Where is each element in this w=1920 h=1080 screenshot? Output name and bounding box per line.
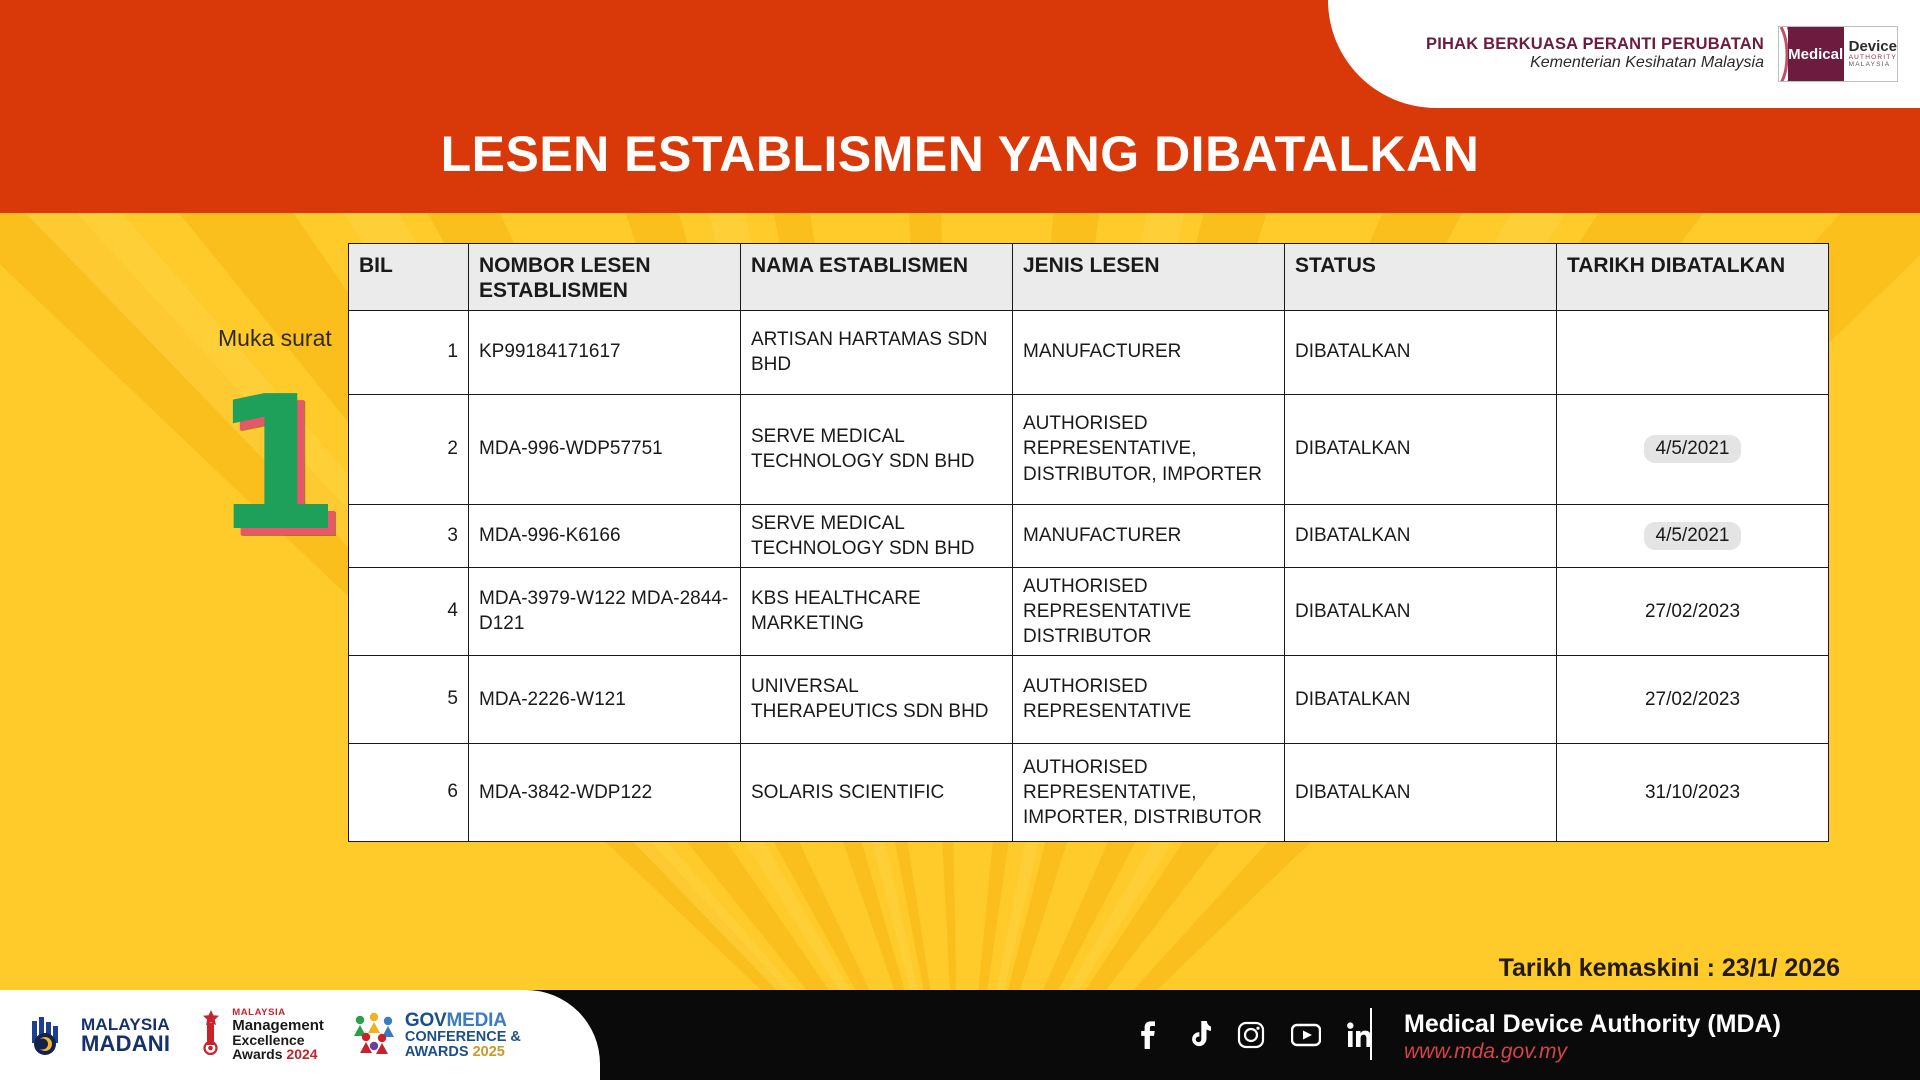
table-row: 5 MDA-2226-W121 UNIVERSAL THERAPEUTICS S…	[349, 655, 1829, 743]
table-row: 3 MDA-996-K6166 SERVE MEDICAL TECHNOLOGY…	[349, 504, 1829, 567]
tiktok-icon[interactable]	[1187, 1021, 1211, 1049]
cell-nombor: MDA-2226-W121	[469, 655, 741, 743]
cell-tarikh: 27/02/2023	[1557, 567, 1829, 655]
cell-status: DIBATALKAN	[1285, 567, 1557, 655]
cell-nama: UNIVERSAL THERAPEUTICS SDN BHD	[741, 655, 1013, 743]
slide-root: PIHAK BERKUASA PERANTI PERUBATAN Kemente…	[0, 0, 1920, 1080]
footer-divider	[1370, 1008, 1372, 1060]
cell-tarikh	[1557, 310, 1829, 394]
social-links	[1135, 990, 1373, 1080]
management-excellence-awards-logo: MALAYSIA Management Excellence Awards 20…	[196, 1008, 324, 1062]
madani-text: MALAYSIA MADANI	[81, 1016, 170, 1055]
cell-status: DIBATALKAN	[1285, 310, 1557, 394]
madani-line2: MADANI	[81, 1033, 170, 1055]
column-header-tarikh: TARIKH DIBATALKAN	[1557, 244, 1829, 311]
cell-bil: 1	[349, 310, 469, 394]
cell-status: DIBATALKAN	[1285, 655, 1557, 743]
cell-tarikh: 31/10/2023	[1557, 743, 1829, 841]
table-row: 4 MDA-3979-W122 MDA-2844-D121 KBS HEALTH…	[349, 567, 1829, 655]
cell-jenis: AUTHORISED REPRESENTATIVE, DISTRIBUTOR, …	[1013, 394, 1285, 504]
cell-nombor: MDA-3979-W122 MDA-2844-D121	[469, 567, 741, 655]
cell-nama: KBS HEALTHCARE MARKETING	[741, 567, 1013, 655]
cell-jenis: MANUFACTURER	[1013, 504, 1285, 567]
cell-jenis: AUTHORISED REPRESENTATIVE	[1013, 655, 1285, 743]
mda-logo-group: PIHAK BERKUASA PERANTI PERUBATAN Kemente…	[1360, 0, 1920, 108]
cell-bil: 6	[349, 743, 469, 841]
page-title: LESEN ESTABLISMEN YANG DIBATALKAN	[0, 125, 1920, 183]
cell-jenis: AUTHORISED REPRESENTATIVE, IMPORTER, DIS…	[1013, 743, 1285, 841]
mea-text: MALAYSIA Management Excellence Awards 20…	[232, 1008, 324, 1062]
cell-status: DIBATALKAN	[1285, 504, 1557, 567]
brand-name: Medical Device Authority (MDA)	[1404, 1009, 1781, 1039]
malaysia-madani-logo: MALAYSIA MADANI	[28, 1013, 170, 1057]
page-indicator-number: 1	[212, 372, 341, 557]
ministry-name: Kementerian Kesihatan Malaysia	[1426, 54, 1764, 72]
gov-media-awards-logo: GOVMEDIA CONFERENCE & AWARDS 2025	[350, 1010, 521, 1061]
mda-logo-medical: Medical	[1788, 27, 1844, 81]
cell-tarikh: 27/02/2023	[1557, 655, 1829, 743]
column-header-status: STATUS	[1285, 244, 1557, 311]
mda-wave-icon	[1779, 27, 1788, 81]
agency-name-bm: PIHAK BERKUASA PERANTI PERUBATAN	[1426, 35, 1764, 54]
cell-bil: 4	[349, 567, 469, 655]
license-table-wrapper: BIL NOMBOR LESEN ESTABLISMEN NAMA ESTABL…	[348, 243, 1828, 842]
mea-line1: Management	[232, 1018, 324, 1033]
facebook-icon[interactable]	[1135, 1021, 1161, 1049]
cell-nombor: MDA-3842-WDP122	[469, 743, 741, 841]
table-header-row: BIL NOMBOR LESEN ESTABLISMEN NAMA ESTABL…	[349, 244, 1829, 311]
gov-line1: GOVMEDIA	[405, 1011, 521, 1030]
cell-jenis: MANUFACTURER	[1013, 310, 1285, 394]
cell-bil: 2	[349, 394, 469, 504]
instagram-icon[interactable]	[1237, 1021, 1265, 1049]
column-header-bil: BIL	[349, 244, 469, 311]
cell-tarikh: 4/5/2021	[1557, 394, 1829, 504]
gov-line2: CONFERENCE &	[405, 1030, 521, 1045]
page-indicator-label: Muka surat	[218, 325, 332, 352]
mda-emblem-icon: Medical Device AUTHORITY MALAYSIA	[1778, 26, 1898, 82]
mea-emblem-icon	[196, 1009, 226, 1060]
cell-bil: 5	[349, 655, 469, 743]
cell-tarikh: 4/5/2021	[1557, 504, 1829, 567]
mea-year: 2024	[286, 1046, 317, 1062]
table-row: 6 MDA-3842-WDP122 SOLARIS SCIENTIFIC AUT…	[349, 743, 1829, 841]
table-row: 2 MDA-996-WDP57751 SERVE MEDICAL TECHNOL…	[349, 394, 1829, 504]
cell-status: DIBATALKAN	[1285, 394, 1557, 504]
gov-people-icon	[350, 1010, 398, 1061]
mda-logo-malaysia: MALAYSIA	[1849, 62, 1891, 69]
madani-emblem-icon	[28, 1013, 72, 1057]
mda-logo-right: Device AUTHORITY MALAYSIA	[1844, 27, 1897, 81]
column-header-nama: NAMA ESTABLISMEN	[741, 244, 1013, 311]
cell-bil: 3	[349, 504, 469, 567]
gov-text: GOVMEDIA CONFERENCE & AWARDS 2025	[405, 1011, 521, 1060]
madani-line1: MALAYSIA	[81, 1016, 170, 1033]
agency-name-block: PIHAK BERKUASA PERANTI PERUBATAN Kemente…	[1426, 35, 1764, 72]
cell-nombor: MDA-996-K6166	[469, 504, 741, 567]
table-body: 1 KP99184171617 ARTISAN HARTAMAS SDN BHD…	[349, 310, 1829, 841]
table-row: 1 KP99184171617 ARTISAN HARTAMAS SDN BHD…	[349, 310, 1829, 394]
cell-status: DIBATALKAN	[1285, 743, 1557, 841]
gov-line3: AWARDS 2025	[405, 1045, 521, 1060]
cell-jenis: AUTHORISED REPRESENTATIVE DISTRIBUTOR	[1013, 567, 1285, 655]
brand-url[interactable]: www.mda.gov.my	[1404, 1039, 1781, 1064]
mda-logo-device: Device	[1849, 39, 1897, 55]
cell-nama: SOLARIS SCIENTIFIC	[741, 743, 1013, 841]
cell-nama: SERVE MEDICAL TECHNOLOGY SDN BHD	[741, 504, 1013, 567]
cell-nombor: KP99184171617	[469, 310, 741, 394]
footer-brand: Medical Device Authority (MDA) www.mda.g…	[1404, 1009, 1781, 1064]
column-header-nombor: NOMBOR LESEN ESTABLISMEN	[469, 244, 741, 311]
youtube-icon[interactable]	[1291, 1023, 1321, 1047]
mea-line3: Awards 2024	[232, 1047, 324, 1061]
last-updated-text: Tarikh kemaskini : 23/1/ 2026	[1499, 954, 1840, 983]
cell-nombor: MDA-996-WDP57751	[469, 394, 741, 504]
footer-logo-panel: MALAYSIA MADANI MALAYSIA Management Exce…	[0, 990, 600, 1080]
mea-line2: Excellence	[232, 1033, 324, 1047]
cancelled-licenses-table: BIL NOMBOR LESEN ESTABLISMEN NAMA ESTABL…	[348, 243, 1829, 842]
cell-nama: ARTISAN HARTAMAS SDN BHD	[741, 310, 1013, 394]
column-header-jenis: JENIS LESEN	[1013, 244, 1285, 311]
cell-nama: SERVE MEDICAL TECHNOLOGY SDN BHD	[741, 394, 1013, 504]
gov-year: 2025	[473, 1044, 505, 1060]
